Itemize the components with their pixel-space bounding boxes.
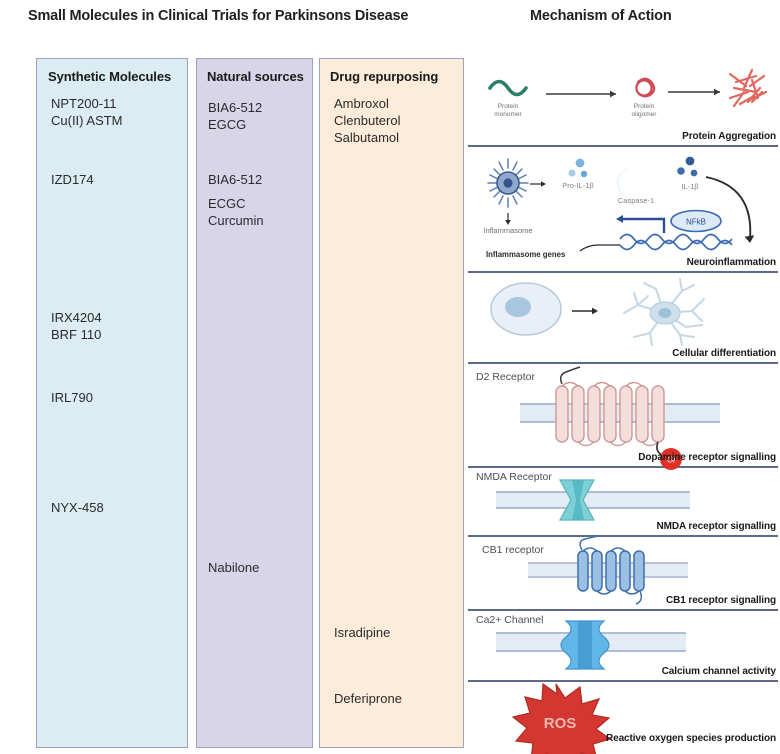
svg-text:Pro-IL-1β: Pro-IL-1β bbox=[562, 181, 594, 190]
mechanism-row-protein-aggregation: Protein monomer Protein oligomer Protein… bbox=[468, 58, 778, 147]
mechanism-label-ros: Reactive oxygen species production bbox=[606, 733, 776, 744]
svg-text:Protein: Protein bbox=[634, 103, 655, 110]
svg-text:Protein: Protein bbox=[498, 103, 519, 110]
mechanism-row-nmda-receptor: NMDA Receptor NMDA receptor signalling bbox=[468, 468, 778, 537]
neuroinflammation-diagram: NFkB Inflammasome Pro-IL-1β Caspase-1 IL… bbox=[468, 147, 778, 267]
mechanism-label-dopamine-receptor: Dopamine receptor signalling bbox=[638, 452, 776, 463]
mechanism-label-protein-aggregation: Protein Aggregation bbox=[682, 131, 776, 142]
mechanism-label-cellular-differentiation: Cellular differentiation bbox=[672, 348, 776, 359]
column-header-synthetic: Synthetic Molecules bbox=[37, 69, 187, 84]
mechanism-label-calcium-channel: Calcium channel activity bbox=[662, 666, 776, 677]
page-title-right: Mechanism of Action bbox=[530, 8, 671, 24]
column-synthetic-molecules: Synthetic Molecules NPT200-11 Cu(II) AST… bbox=[36, 58, 188, 748]
svg-text:Ca2+ Channel: Ca2+ Channel bbox=[476, 614, 543, 626]
dopamine-receptor-diagram: Gi D2 Receptor bbox=[468, 364, 778, 463]
list-item: IRX4204 BRF 110 bbox=[51, 309, 102, 343]
svg-text:D2 Receptor: D2 Receptor bbox=[476, 371, 535, 383]
figure-canvas: Small Molecules in Clinical Trials for P… bbox=[0, 0, 780, 750]
svg-text:IL-1β: IL-1β bbox=[681, 182, 699, 191]
list-item: NYX-458 bbox=[51, 499, 104, 516]
list-item: NPT200-11 Cu(II) ASTM bbox=[51, 95, 123, 129]
mechanism-row-cellular-differentiation: Cellular differentiation bbox=[468, 273, 778, 364]
svg-text:Inflammasome genes: Inflammasome genes bbox=[486, 250, 566, 259]
mechanism-label-neuroinflammation: Neuroinflammation bbox=[687, 257, 776, 268]
svg-text:Caspase-1: Caspase-1 bbox=[618, 196, 654, 205]
list-item: Nabilone bbox=[208, 559, 259, 576]
protein-aggregation-diagram: Protein monomer Protein oligomer bbox=[468, 58, 778, 142]
mechanism-label-cb1-receptor: CB1 receptor signalling bbox=[666, 595, 776, 606]
column-header-natural: Natural sources bbox=[197, 69, 312, 84]
list-item: Isradipine bbox=[334, 624, 390, 641]
list-item: IZD174 bbox=[51, 171, 94, 188]
mechanism-label-nmda-receptor: NMDA receptor signalling bbox=[657, 521, 776, 532]
mechanism-row-neuroinflammation: NFkB Inflammasome Pro-IL-1β Caspase-1 IL… bbox=[468, 147, 778, 273]
svg-text:oligomer: oligomer bbox=[632, 111, 658, 118]
list-item: BIA6-512 EGCG bbox=[208, 99, 262, 133]
page-title-left: Small Molecules in Clinical Trials for P… bbox=[28, 8, 408, 24]
list-item: Ambroxol Clenbuterol Salbutamol bbox=[334, 95, 401, 146]
column-drug-repurposing: Drug repurposing Ambroxol Clenbuterol Sa… bbox=[319, 58, 464, 748]
cellular-differentiation-diagram bbox=[468, 273, 778, 359]
svg-text:Inflammasome: Inflammasome bbox=[483, 226, 532, 235]
mechanism-row-calcium-channel: Ca2+ Channel Calcium channel activity bbox=[468, 611, 778, 682]
mechanism-row-dopamine-receptor: Gi D2 Receptor Dopamine receptor signall… bbox=[468, 364, 778, 468]
svg-text:NFkB: NFkB bbox=[686, 218, 706, 227]
column-header-repurposing: Drug repurposing bbox=[320, 69, 463, 84]
list-item: ECGC Curcumin bbox=[208, 195, 264, 229]
mechanism-of-action-panel: Protein monomer Protein oligomer Protein… bbox=[468, 58, 778, 754]
svg-text:CB1 receptor: CB1 receptor bbox=[482, 544, 544, 556]
svg-text:ROS: ROS bbox=[544, 715, 577, 732]
list-item: IRL790 bbox=[51, 389, 93, 406]
column-natural-sources: Natural sources BIA6-512 EGCG BIA6-512 E… bbox=[196, 58, 313, 748]
mechanism-row-ros: ROS Reactive oxygen species production bbox=[468, 682, 778, 754]
list-item: BIA6-512 bbox=[208, 171, 262, 188]
mechanism-row-cb1-receptor: CB1 receptor CB1 receptor signalling bbox=[468, 537, 778, 611]
svg-text:monomer: monomer bbox=[494, 111, 522, 118]
svg-text:NMDA Receptor: NMDA Receptor bbox=[476, 471, 552, 483]
list-item: Deferiprone bbox=[334, 690, 402, 707]
